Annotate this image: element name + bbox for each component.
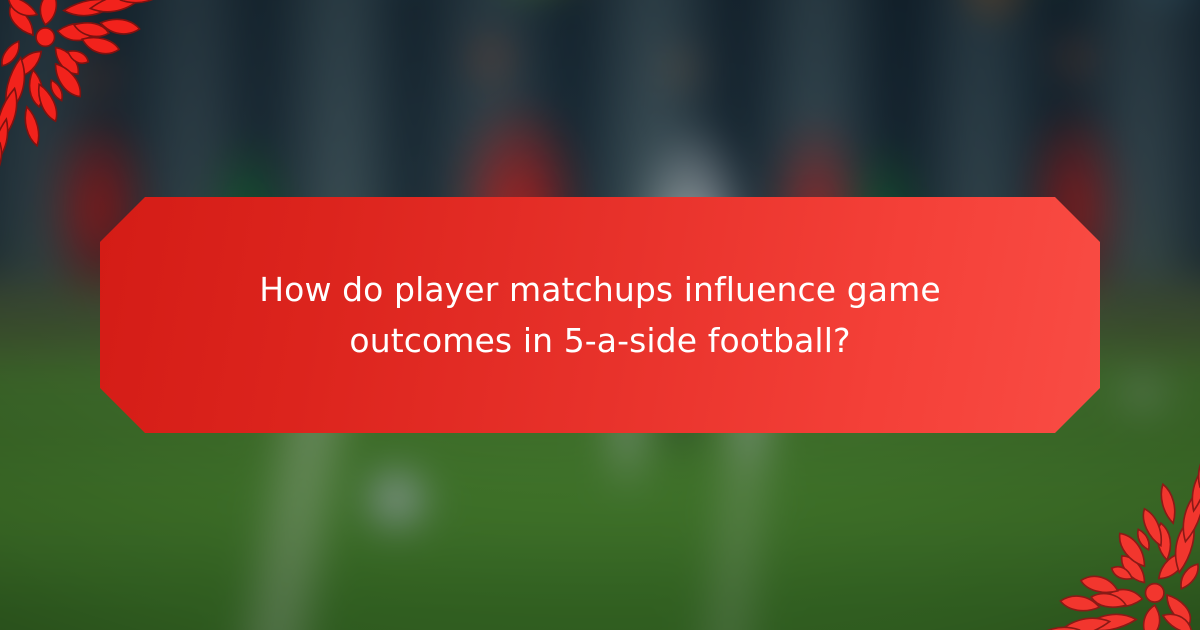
question-banner: How do player matchups influence game ou… bbox=[100, 197, 1100, 433]
question-card: How do player matchups influence game ou… bbox=[0, 0, 1200, 630]
page-title: How do player matchups influence game ou… bbox=[170, 264, 1030, 366]
